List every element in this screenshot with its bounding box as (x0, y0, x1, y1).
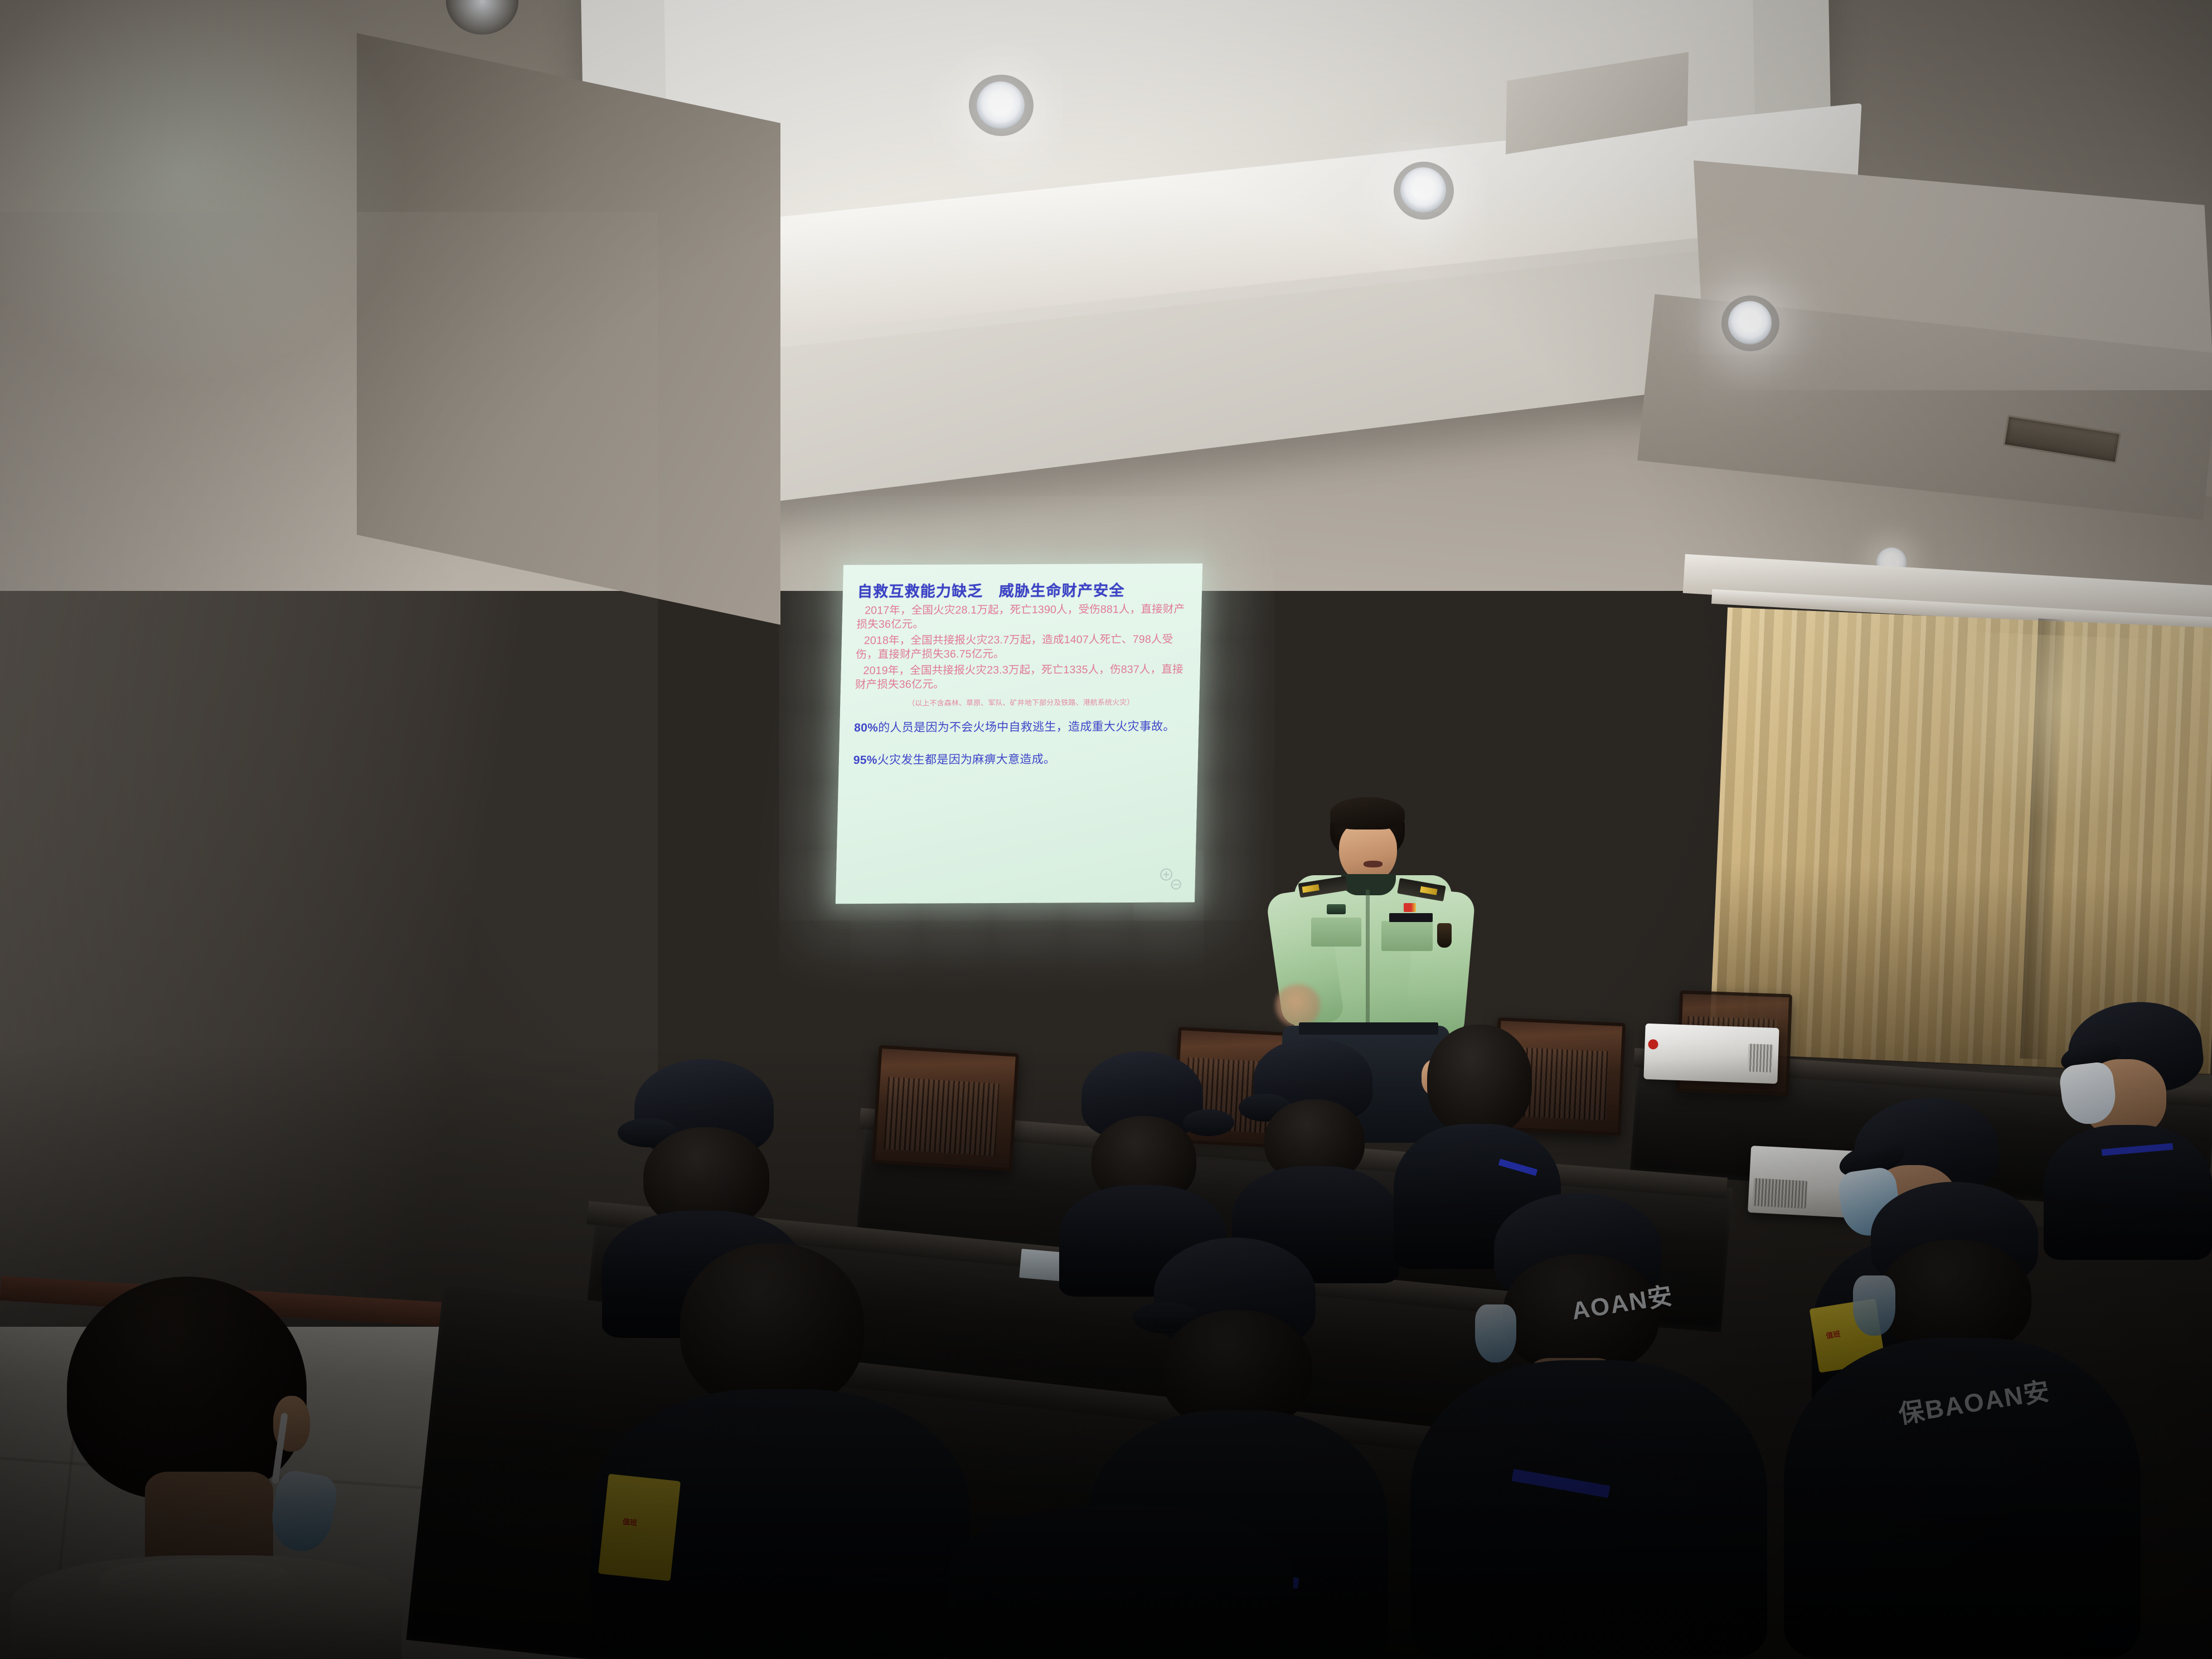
slide-highlight-95: 95%火灾发生都是因为麻痹大意造成。 (853, 751, 1186, 768)
attendee-front-civilian-collar (100, 1559, 295, 1598)
slide-stat-2018: 2018年，全国共接报火灾23.7万起，造成1407人死亡、798人受伤，直接财… (856, 633, 1189, 662)
highlight-text-95: 火灾发生都是因为麻痹大意造成。 (877, 753, 1055, 766)
attendee-baoan-left-body (1410, 1360, 1767, 1659)
projector-rear[interactable] (1643, 1023, 1779, 1084)
downlight-3 (1728, 301, 1772, 345)
presenter-arm-patch-icon (1437, 923, 1452, 948)
window-daylight-glow (1936, 630, 2178, 829)
epaulette-right-chevron (1420, 886, 1437, 895)
slide-watermark-icon (1156, 865, 1186, 895)
presenter-hair-front (1330, 797, 1405, 829)
highlight-pct-95: 95% (853, 754, 877, 767)
downlight-2 (1400, 167, 1446, 213)
projector-rear-vent (1748, 1044, 1773, 1073)
presenter-placket (1366, 890, 1370, 1040)
armband-text-2: 值班 (622, 1516, 638, 1528)
attendee-front-left-center-armband: 值班 (598, 1474, 681, 1582)
chair-1[interactable] (872, 1045, 1019, 1172)
attendee-front-right-silhouette (948, 1505, 1293, 1659)
wall-left-shading (0, 212, 658, 1382)
presenter-chest-badge-icon (1327, 904, 1346, 914)
attendee-baoan-right-mask (1853, 1275, 1895, 1336)
highlight-text-80: 的人员是因为不会火场中自救逃生，造成重大火灾事故。 (878, 720, 1175, 734)
slide-highlight-80: 80%的人员是因为不会火场中自救逃生，造成重大火灾事故。 (854, 719, 1187, 736)
slide-stat-2017: 2017年，全国火灾28.1万起，死亡1390人，受伤881人，直接财产损失36… (856, 603, 1189, 632)
attendee-baoan-left-mask (1475, 1304, 1516, 1362)
presenter-mouth (1364, 861, 1382, 867)
presenter-nametag (1389, 913, 1433, 922)
highlight-pct-80: 80% (854, 721, 878, 734)
chair-1-slats (884, 1077, 1000, 1156)
attendee-baoan-right: 保BAOAN安 (1784, 1182, 2141, 1659)
epaulette-left-chevron (1302, 884, 1320, 893)
presenter-left-hand (1275, 984, 1320, 1027)
attendee-baoan-left: AOAN安 (1410, 1193, 1767, 1659)
meeting-room-photo: 自救互救能力缺乏 威胁生命财产安全 2017年，全国火灾28.1万起，死亡139… (0, 0, 2212, 1659)
attendee-front-civilian (11, 1277, 401, 1659)
projector-rear-power-led (1648, 1039, 1658, 1050)
attendee-front-left-center: 值班 (591, 1243, 970, 1659)
projection-screen: 自救互救能力缺乏 威胁生命财产安全 2017年，全国火灾28.1万起，死亡139… (836, 564, 1203, 904)
presenter-pocket-right (1381, 921, 1433, 951)
attendee-front-left-center-head (680, 1243, 864, 1410)
attendee-cap-left-brim (1183, 1109, 1234, 1136)
downlight-1 (977, 81, 1025, 129)
attendee-center-head (1427, 1025, 1532, 1136)
presenter-pocket-left (1311, 918, 1361, 947)
slide-title: 自救互救能力缺乏 威胁生命财产安全 (857, 578, 1190, 601)
attendee-front-civilian-hair (67, 1277, 307, 1500)
slide-footnote: （以上不含森林、草原、军队、矿井地下部分及铁路、港航系统火灾） (855, 696, 1187, 709)
slide-stat-2019: 2019年，全国共接报火灾23.3万起，死亡1335人，伤837人，直接财产损失… (855, 663, 1188, 692)
screen-light-spill (0, 0, 401, 379)
presenter-flag-pin-icon (1404, 903, 1416, 912)
attendee-cap-mid-left (1232, 1038, 1399, 1272)
